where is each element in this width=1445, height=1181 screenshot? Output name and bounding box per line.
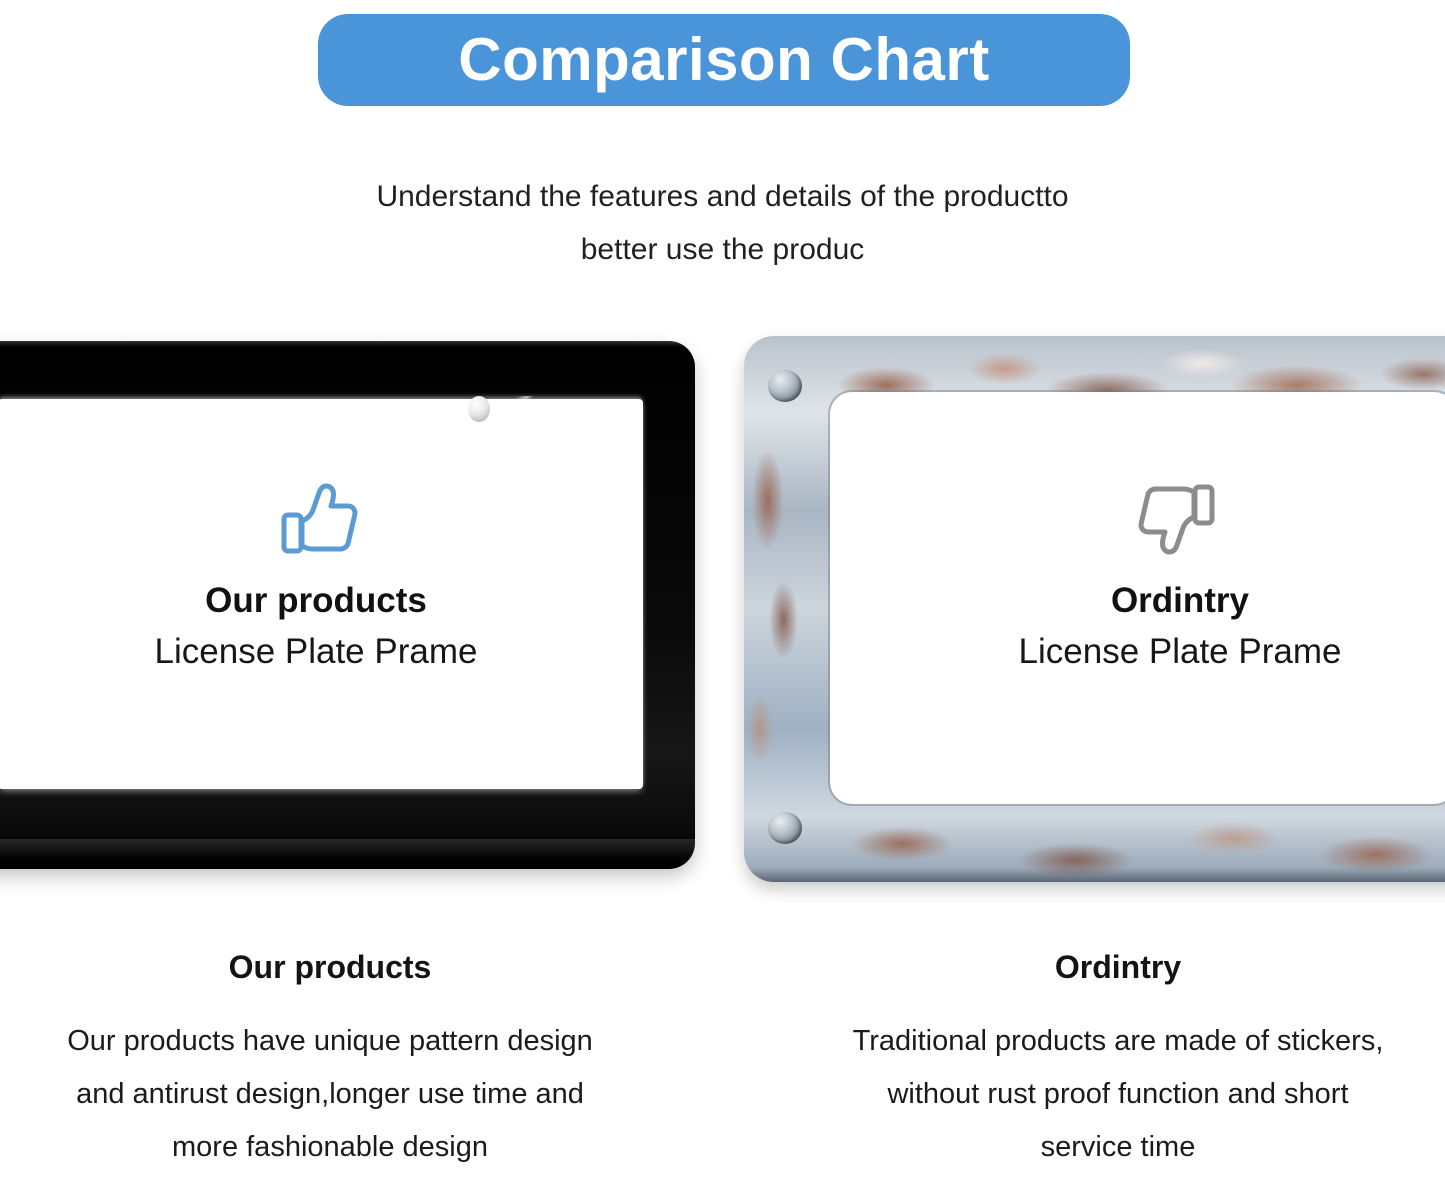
right-description-body: Traditional products are made of sticker… bbox=[788, 1015, 1445, 1174]
left-panel-subheading: License Plate Prame bbox=[0, 633, 676, 672]
frame-top-gloss bbox=[0, 341, 695, 347]
right-description-line-2: without rust proof function and short bbox=[788, 1068, 1445, 1121]
thumbs-up-icon bbox=[0, 470, 676, 568]
left-description: Our products Our products have unique pa… bbox=[0, 950, 660, 1174]
left-description-body: Our products have unique pattern design … bbox=[0, 1015, 660, 1174]
left-description-line-2: and antirust design,longer use time and bbox=[0, 1068, 660, 1121]
right-description-line-3: service time bbox=[788, 1121, 1445, 1174]
right-panel-heading: Ordintry bbox=[820, 582, 1445, 621]
left-panel-heading: Our products bbox=[0, 582, 676, 621]
left-description-line-3: more fashionable design bbox=[0, 1121, 660, 1174]
right-description-title: Ordintry bbox=[788, 950, 1445, 985]
left-description-title: Our products bbox=[0, 950, 660, 985]
thumbs-down-icon bbox=[820, 470, 1445, 568]
screw-icon-bottom-left bbox=[768, 812, 802, 844]
screw-icon-top-left bbox=[768, 370, 802, 402]
screw-hole-icon bbox=[468, 396, 490, 422]
right-panel-subheading: License Plate Prame bbox=[820, 633, 1445, 672]
right-description-line-1: Traditional products are made of sticker… bbox=[788, 1015, 1445, 1068]
left-description-line-1: Our products have unique pattern design bbox=[0, 1015, 660, 1068]
left-panel-content: Our products License Plate Prame bbox=[0, 470, 676, 671]
right-description: Ordintry Traditional products are made o… bbox=[788, 950, 1445, 1174]
frame-bottom-gloss bbox=[0, 839, 695, 859]
rusty-frame-edge-shadow bbox=[744, 868, 1445, 882]
right-panel-content: Ordintry License Plate Prame bbox=[820, 470, 1445, 671]
